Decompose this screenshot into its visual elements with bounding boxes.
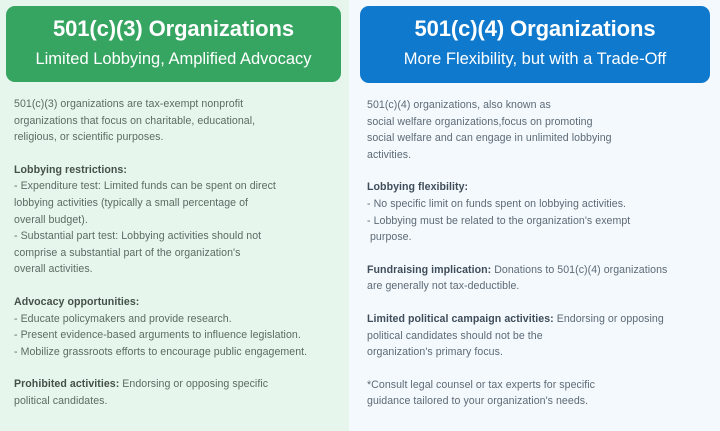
text-line: - Expenditure test: Limited funds can be… (14, 178, 341, 195)
text-line: activities. (367, 147, 712, 164)
page-subtitle-501c3: Limited Lobbying, Amplified Advocacy (12, 47, 335, 71)
header-card-501c3: 501(c)(3) Organizations Limited Lobbying… (6, 6, 341, 82)
section-heading: Advocacy opportunities: (14, 294, 341, 311)
text-line: Prohibited activities: Endorsing or oppo… (14, 376, 341, 393)
text-line: religious, or scientific purposes. (14, 129, 341, 146)
section-heading: Lobbying flexibility: (367, 179, 712, 196)
section-political-campaign-activities: Limited political campaign activities: E… (367, 311, 712, 361)
text-line: organization's primary focus. (367, 344, 712, 361)
section-fundraising-implication: Fundraising implication: Donations to 50… (367, 262, 712, 295)
header-card-501c4: 501(c)(4) Organizations More Flexibility… (360, 6, 710, 83)
text-line: comprise a substantial part of the organ… (14, 245, 341, 262)
text-run: Endorsing or opposing (554, 313, 664, 325)
text-line: Fundraising implication: Donations to 50… (367, 262, 712, 279)
section-label: Fundraising implication: (367, 264, 491, 276)
section-disclaimer: *Consult legal counsel or tax experts fo… (367, 377, 712, 410)
section-label: Limited political campaign activities: (367, 313, 554, 325)
section-lobbying-restrictions: Lobbying restrictions: - Expenditure tes… (14, 162, 341, 278)
paragraph-intro-501c3: 501(c)(3) organizations are tax-exempt n… (14, 96, 341, 146)
comparison-infographic: 501(c)(3) Organizations Limited Lobbying… (0, 0, 720, 431)
text-line: - Present evidence-based arguments to in… (14, 327, 341, 344)
text-line: organizations that focus on charitable, … (14, 113, 341, 130)
text-line: - Substantial part test: Lobbying activi… (14, 228, 341, 245)
section-label: Prohibited activities: (14, 378, 119, 390)
text-line: 501(c)(3) organizations are tax-exempt n… (14, 96, 341, 113)
text-line: lobbying activities (typically a small p… (14, 195, 341, 212)
section-advocacy-opportunities: Advocacy opportunities: - Educate policy… (14, 294, 341, 360)
text-line: social welfare organizations,focus on pr… (367, 114, 712, 131)
page-subtitle-501c4: More Flexibility, but with a Trade-Off (366, 47, 704, 71)
text-line: - Educate policymakers and provide resea… (14, 311, 341, 328)
text-line: political candidates should not be the (367, 328, 712, 345)
text-line: *Consult legal counsel or tax experts fo… (367, 377, 712, 394)
page-title-501c4: 501(c)(4) Organizations (366, 15, 704, 43)
section-heading: Lobbying restrictions: (14, 162, 341, 179)
text-line: guidance tailored to your organization's… (367, 393, 712, 410)
body-501c3: 501(c)(3) organizations are tax-exempt n… (6, 96, 341, 410)
text-line: political candidates. (14, 393, 341, 410)
section-prohibited-activities: Prohibited activities: Endorsing or oppo… (14, 376, 341, 409)
text-line: - No specific limit on funds spent on lo… (367, 196, 712, 213)
text-line: - Lobbying must be related to the organi… (367, 213, 712, 230)
text-run: Donations to 501(c)(4) organizations (491, 264, 667, 276)
panel-501c4: 501(c)(4) Organizations More Flexibility… (349, 0, 720, 431)
text-line: are generally not tax-deductible. (367, 278, 712, 295)
text-line: - Mobilize grassroots efforts to encoura… (14, 344, 341, 361)
panel-501c3: 501(c)(3) Organizations Limited Lobbying… (0, 0, 349, 431)
text-line: social welfare and can engage in unlimit… (367, 130, 712, 147)
text-line: 501(c)(4) organizations, also known as (367, 97, 712, 114)
text-line: overall activities. (14, 261, 341, 278)
text-line: purpose. (367, 229, 712, 246)
text-run: Endorsing or opposing specific (119, 378, 268, 390)
paragraph-intro-501c4: 501(c)(4) organizations, also known as s… (367, 97, 712, 163)
text-line: overall budget). (14, 212, 341, 229)
body-501c4: 501(c)(4) organizations, also known as s… (360, 97, 712, 410)
section-lobbying-flexibility: Lobbying flexibility: - No specific limi… (367, 179, 712, 245)
text-line: Limited political campaign activities: E… (367, 311, 712, 328)
page-title-501c3: 501(c)(3) Organizations (12, 15, 335, 43)
